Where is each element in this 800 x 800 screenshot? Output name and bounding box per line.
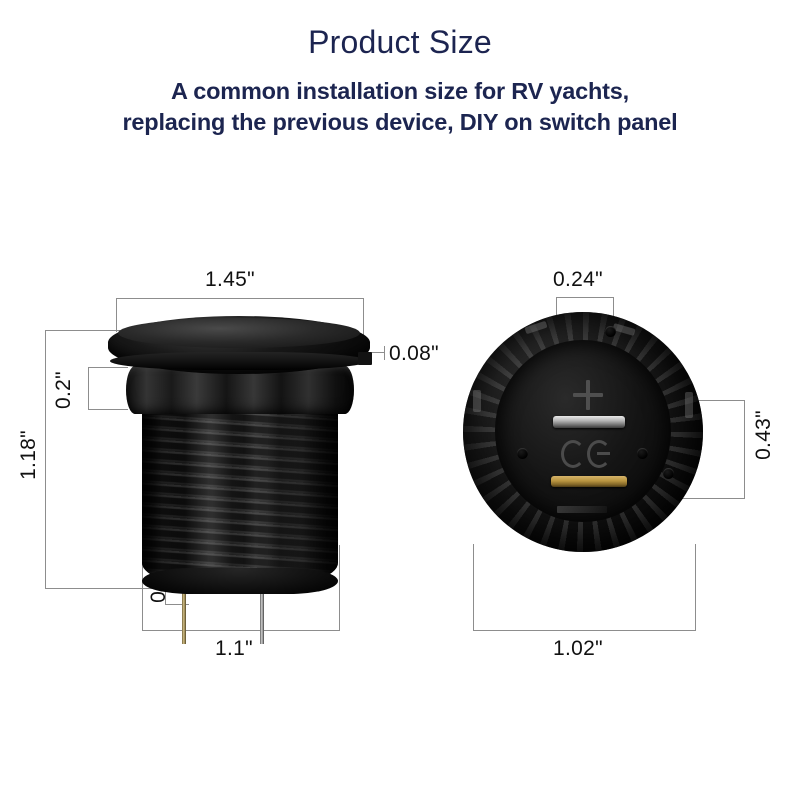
dimline-collar-height-vertical — [88, 367, 89, 409]
terminal-blade-positive — [553, 416, 625, 428]
dimension-label-collar-height: 0.2" — [52, 367, 76, 413]
rim-notch-left — [473, 390, 481, 412]
ce-c-glyph — [561, 440, 585, 468]
dimension-label-terminal-width: 0.24" — [553, 268, 603, 292]
dimline-terminal-spacing-vertical — [744, 400, 745, 498]
ce-e-bar — [597, 452, 610, 455]
dimline-barrel-diameter-bottom — [142, 630, 340, 631]
polarity-plus-icon — [573, 380, 603, 410]
barrel-shading — [142, 408, 338, 588]
threaded-barrel — [142, 408, 338, 588]
dimline-back-diameter-bottom — [473, 630, 696, 631]
molded-text-mark — [557, 506, 607, 513]
mount-hole-right — [637, 448, 648, 459]
rim-notch-right — [685, 392, 693, 418]
dimline-back-diameter-right-tick — [695, 544, 696, 631]
dimension-label-flange-tab-depth: 0.08" — [389, 342, 439, 366]
bezel-lip — [110, 352, 368, 370]
socket-back-face — [495, 340, 671, 522]
ce-mark-icon — [555, 440, 621, 470]
bezel-edge-tab — [358, 352, 372, 365]
dimline-flange-tab-tick — [384, 346, 385, 360]
dimension-label-barrel-diameter: 1.1" — [215, 637, 253, 661]
product-back-view — [463, 312, 703, 552]
dimension-label-back-body-diameter: 1.02" — [553, 637, 603, 661]
rim-screw-boss-bottom — [663, 468, 674, 479]
dimline-flange-diameter-top — [116, 298, 364, 299]
dimline-terminal-width-top — [556, 297, 614, 298]
rim-screw-boss-top — [605, 326, 616, 337]
barrel-bottom-edge — [142, 568, 338, 594]
dimension-label-total-height: 1.18" — [17, 422, 41, 488]
dimline-back-diameter-left-tick — [473, 544, 474, 631]
diagram-stage: 1.45" 0.08" 0.2" 1.18" 0.39" 1.1" — [0, 0, 800, 800]
dimline-total-height-vertical — [45, 330, 46, 588]
mount-hole-left — [517, 448, 528, 459]
bezel-face — [118, 318, 360, 348]
product-side-view — [108, 316, 370, 626]
dimension-label-terminal-spacing: 0.43" — [752, 402, 776, 468]
terminal-blade-negative — [551, 476, 627, 487]
dimension-label-flange-diameter: 1.45" — [205, 268, 255, 292]
